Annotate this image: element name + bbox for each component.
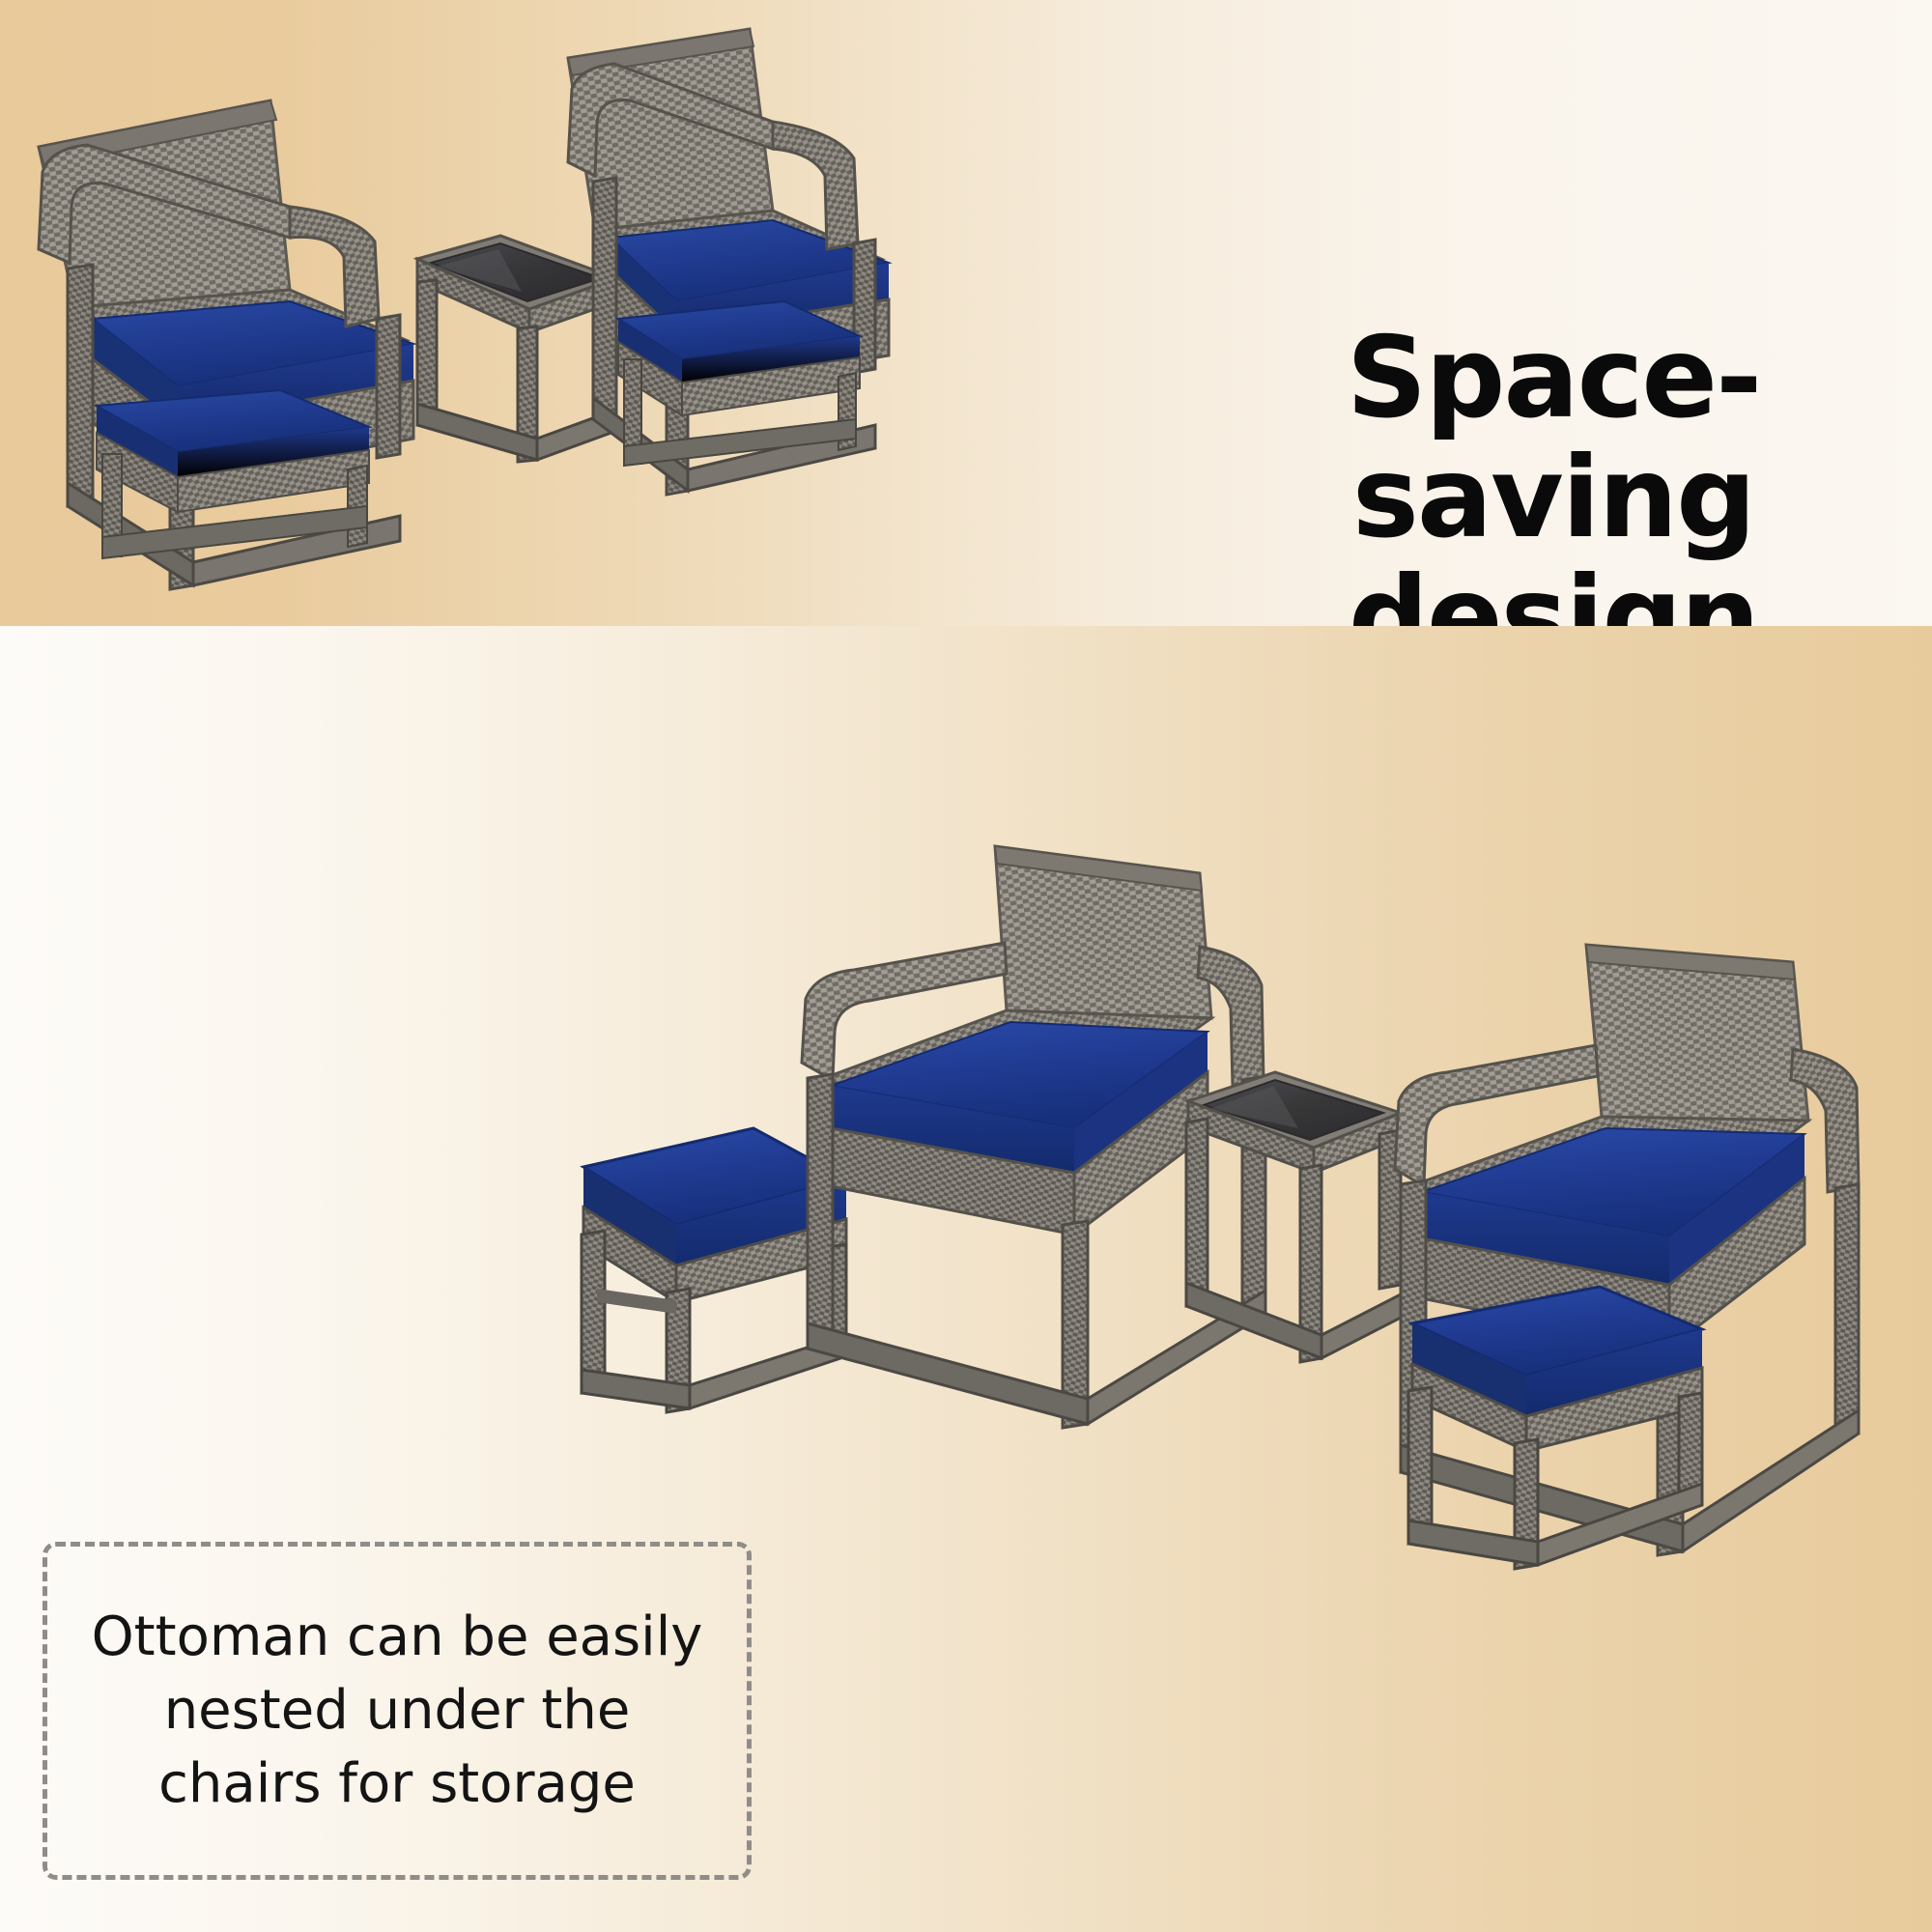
callout-line-1: Ottoman can be easily [92, 1601, 703, 1674]
chair-left-top [39, 100, 413, 589]
callout-line-2: nested under the [92, 1674, 703, 1747]
panel-ottoman-storage: Ottoman can be easily nested under the c… [0, 626, 1932, 1932]
headline-line-1: Space-saving [1206, 319, 1901, 558]
callout-ottoman-storage: Ottoman can be easily nested under the c… [43, 1542, 752, 1880]
callout-text: Ottoman can be easily nested under the c… [67, 1601, 728, 1821]
marketing-image: Space-saving design [0, 0, 1932, 1932]
chair-right-bottom [1395, 945, 1859, 1569]
ottoman-nested-right-top [618, 301, 860, 466]
side-table-top [417, 236, 616, 462]
chair-right-top [568, 29, 889, 495]
panel-space-saving-design: Space-saving design [0, 0, 1932, 626]
headline-line-2: design [1206, 558, 1901, 626]
headline-space-saving-design: Space-saving design [1206, 319, 1901, 626]
callout-line-3: chairs for storage [92, 1747, 703, 1821]
side-table-bottom [1186, 1072, 1401, 1362]
